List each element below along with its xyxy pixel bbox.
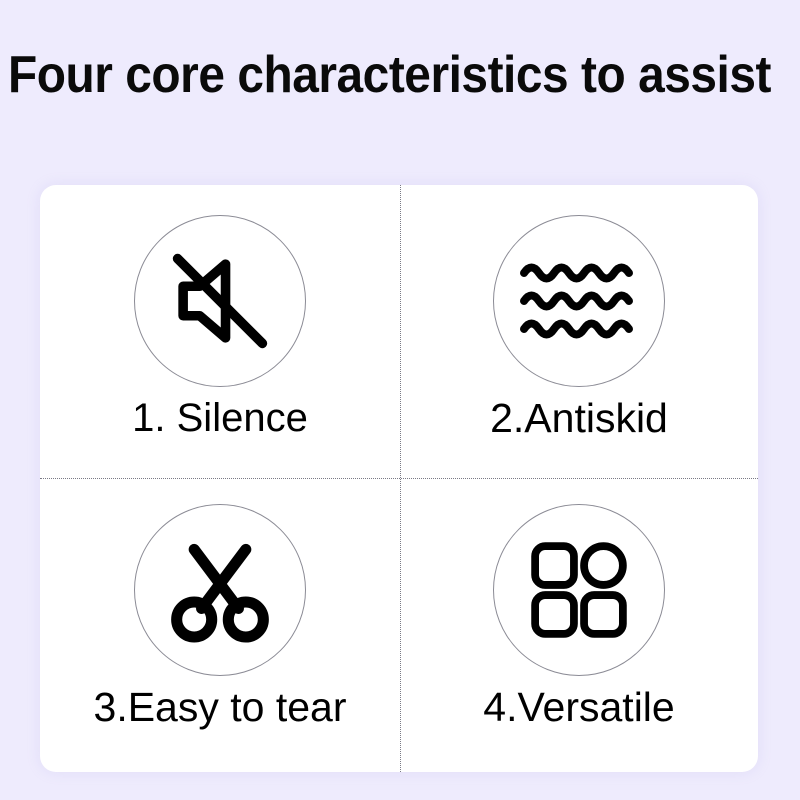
- feature-card: 1. Silence 2.Antiskid: [40, 185, 758, 772]
- feature-cell-easy-to-tear[interactable]: 3.Easy to tear: [40, 478, 400, 772]
- icon-circle: [493, 504, 665, 676]
- wavy-lines-icon: [518, 255, 640, 347]
- feature-cell-antiskid[interactable]: 2.Antiskid: [400, 185, 758, 478]
- icon-circle: [493, 215, 665, 387]
- icon-circle: [134, 504, 306, 676]
- feature-cell-silence[interactable]: 1. Silence: [40, 185, 400, 478]
- feature-label: 1. Silence: [132, 393, 308, 443]
- feature-label: 3.Easy to tear: [94, 682, 347, 733]
- icon-circle: [134, 215, 306, 387]
- page-title: Four core characteristics to assist: [8, 42, 744, 108]
- muted-speaker-icon: [161, 242, 279, 360]
- feature-label: 2.Antiskid: [490, 393, 668, 444]
- shapes-grid-icon: [525, 536, 633, 644]
- scissors-icon: [161, 531, 279, 649]
- feature-grid: 1. Silence 2.Antiskid: [40, 185, 758, 772]
- feature-label: 4.Versatile: [483, 682, 674, 733]
- feature-cell-versatile[interactable]: 4.Versatile: [400, 478, 758, 772]
